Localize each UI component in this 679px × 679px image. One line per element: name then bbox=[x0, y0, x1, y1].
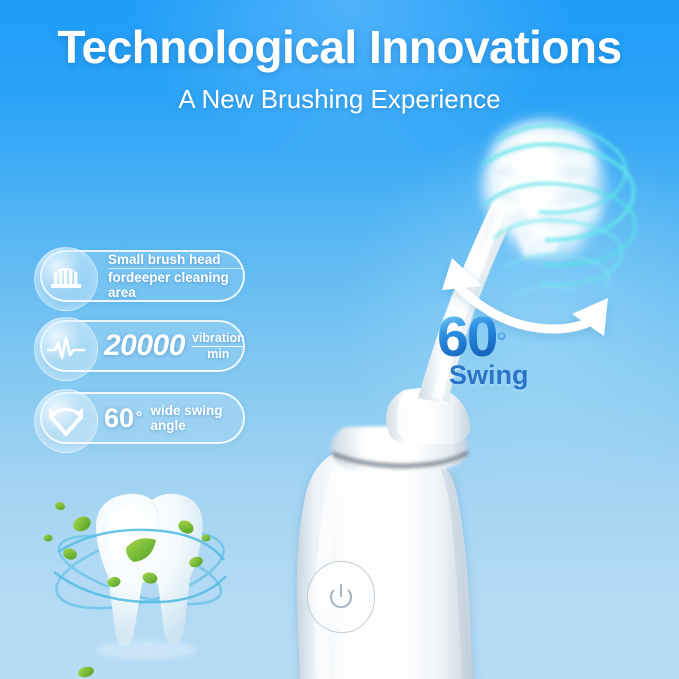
power-button[interactable] bbox=[307, 561, 375, 633]
swing-angle-label-line-2: angle bbox=[150, 418, 185, 433]
vibration-unit-numerator: vibration bbox=[192, 331, 245, 345]
swing-arrows-icon bbox=[34, 389, 98, 453]
tooth-graphic bbox=[44, 494, 232, 679]
vibration-unit-denominator: min bbox=[192, 346, 245, 361]
page-title: Technological Innovations bbox=[0, 20, 679, 74]
feature-pill-swing-angle: 60 ° wide swing angle bbox=[40, 392, 245, 444]
swing-angle-label-line-1: wide swing bbox=[150, 403, 222, 418]
feature-line-1: Small brush head bbox=[108, 252, 243, 267]
swing-angle-label: wide swing angle bbox=[150, 403, 222, 433]
feature-pill-small-brush-head: Small brush head fordeeper cleaning area bbox=[40, 250, 245, 302]
feature-pill-text: Small brush head fordeeper cleaning area bbox=[108, 252, 243, 300]
swing-angle-value: 60 bbox=[104, 403, 134, 434]
vibration-value: 20000 bbox=[104, 329, 185, 363]
vibration-unit: vibration min bbox=[192, 331, 245, 361]
swing-angle-group: 60 ° wide swing angle bbox=[104, 403, 222, 434]
feature-line-2: fordeeper cleaning area bbox=[108, 268, 243, 300]
page-subtitle: A New Brushing Experience bbox=[0, 84, 679, 115]
product-infographic: Technological Innovations A New Brushing… bbox=[0, 0, 679, 679]
power-icon bbox=[328, 583, 354, 611]
pulse-wave-icon bbox=[34, 317, 98, 381]
degree-symbol: ° bbox=[136, 409, 142, 427]
vibration-value-group: 20000 vibration min bbox=[104, 329, 245, 363]
toothbrush-head-icon bbox=[34, 247, 98, 311]
feature-pill-vibration-rate: 20000 vibration min bbox=[40, 320, 245, 372]
